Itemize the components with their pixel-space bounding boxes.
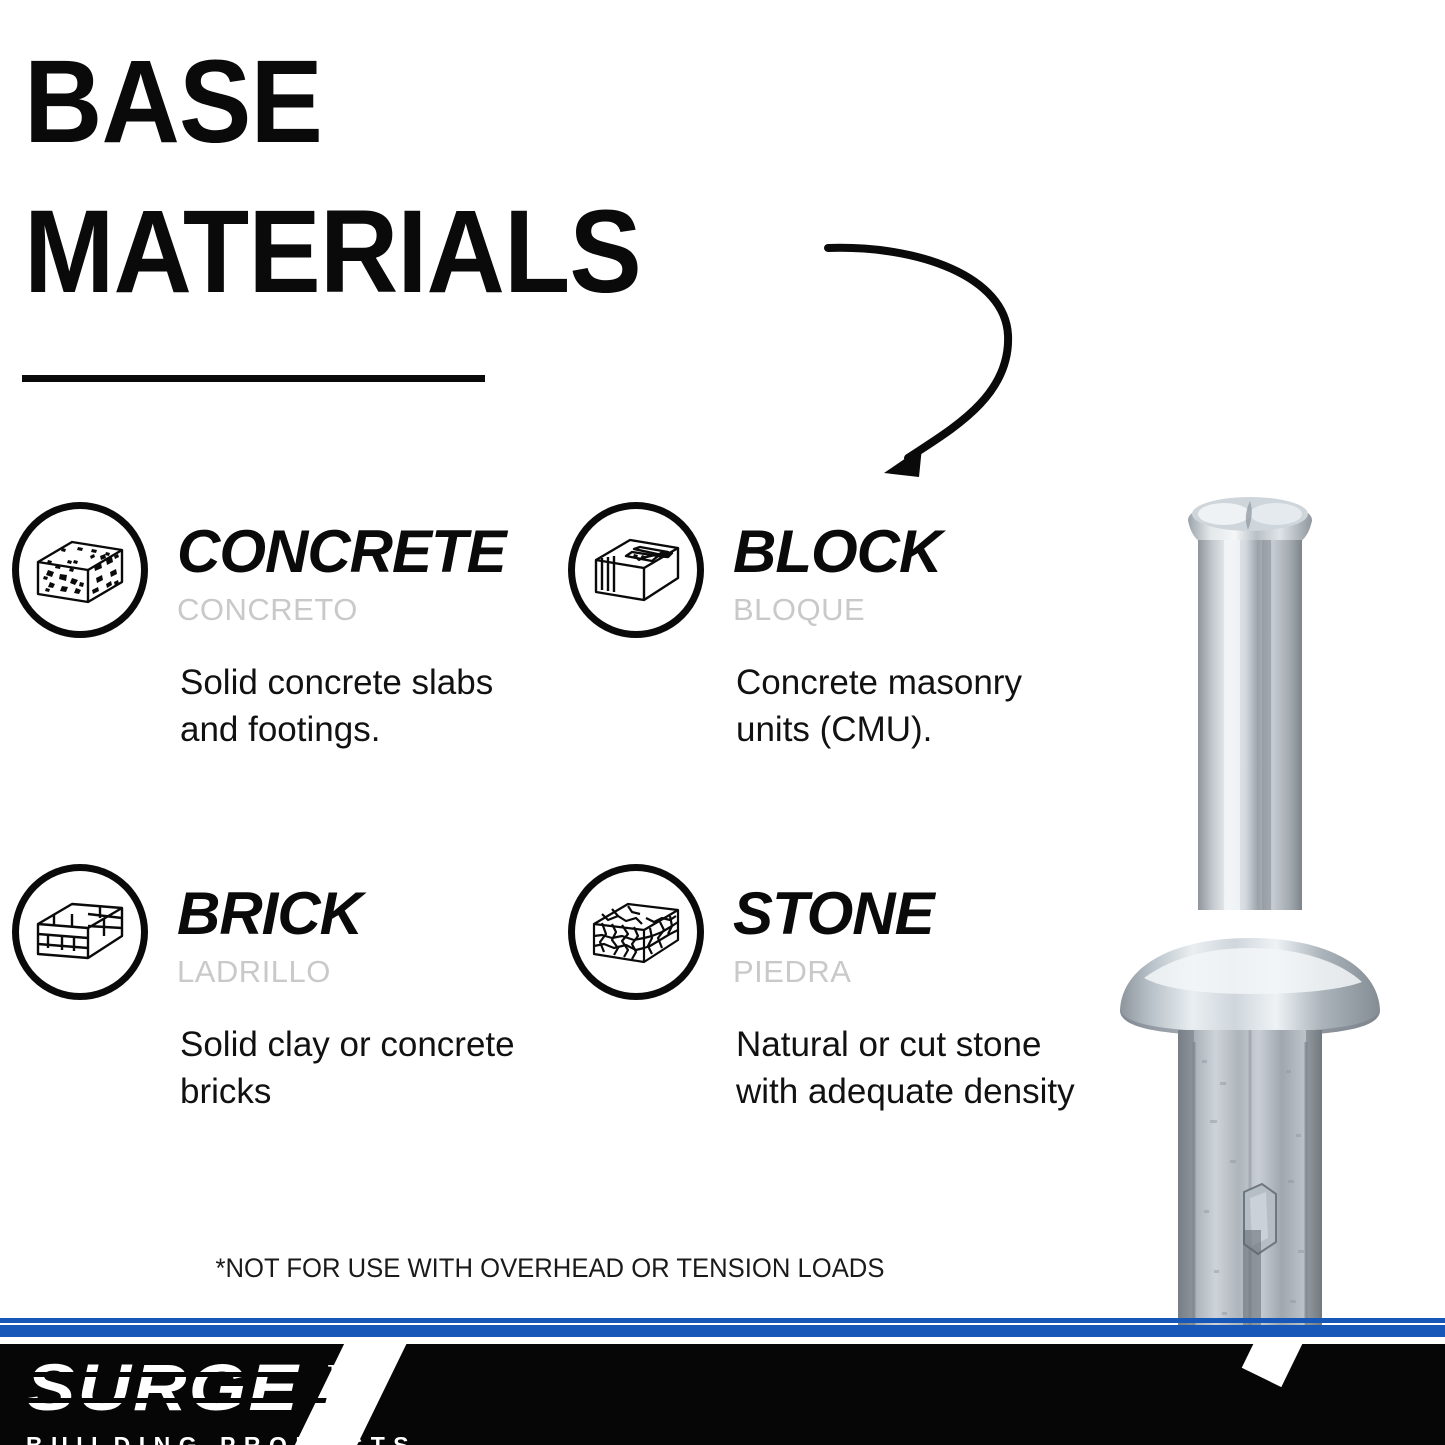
material-name: CONCRETE — [177, 522, 547, 582]
brick-wall-icon — [12, 864, 148, 1000]
material-name: BLOCK — [733, 522, 1103, 582]
material-description: Concrete masonry units (CMU). — [736, 660, 1096, 753]
material-name: BRICK — [177, 884, 547, 944]
material-heading: STONE PIEDRA — [733, 884, 1103, 987]
brand-logo: SURGE TM BUILDING PRODUCTS — [26, 1354, 356, 1445]
material-description: Solid concrete slabs and footings. — [180, 660, 540, 753]
material-name: STONE — [733, 884, 1103, 944]
material-heading: CONCRETE CONCRETO — [177, 522, 547, 625]
title-line-materials: MATERIALS — [24, 196, 778, 308]
bar-diagonal-slash-right — [1242, 1344, 1339, 1387]
material-heading: BLOCK BLOQUE — [733, 522, 1103, 625]
material-description: Natural or cut stone with adequate densi… — [736, 1022, 1096, 1115]
material-description: Solid clay or concrete bricks — [180, 1022, 540, 1115]
cmu-block-icon — [568, 502, 704, 638]
material-name-spanish: CONCRETO — [177, 594, 547, 625]
material-name-spanish: BLOQUE — [733, 594, 1103, 625]
title-underline-rule — [22, 375, 485, 382]
title-line-base: BASE — [24, 46, 778, 158]
material-name-spanish: LADRILLO — [177, 956, 547, 987]
concrete-block-icon — [12, 502, 148, 638]
brand-tagline: BUILDING PRODUCTS — [26, 1432, 356, 1445]
stone-block-icon — [568, 864, 704, 1000]
disclaimer-footnote: *NOT FOR USE WITH OVERHEAD OR TENSION LO… — [28, 1253, 1073, 1284]
trademark-symbol: TM — [328, 1362, 350, 1379]
page-title: BASE MATERIALS — [24, 46, 844, 308]
accent-stripe-main — [0, 1325, 1445, 1337]
material-heading: BRICK LADRILLO — [177, 884, 547, 987]
logo-slash-cut-upper — [25, 1372, 326, 1377]
material-name-spanish: PIEDRA — [733, 956, 1103, 987]
drive-pin-nail-photo — [1100, 470, 1445, 1330]
logo-slash-cut-lower — [25, 1398, 326, 1403]
infographic-page: BASE MATERIALS — [0, 0, 1445, 1445]
accent-stripe-thin — [0, 1318, 1445, 1323]
brand-footer-bar: SURGE TM BUILDING PRODUCTS — [0, 1344, 1445, 1445]
